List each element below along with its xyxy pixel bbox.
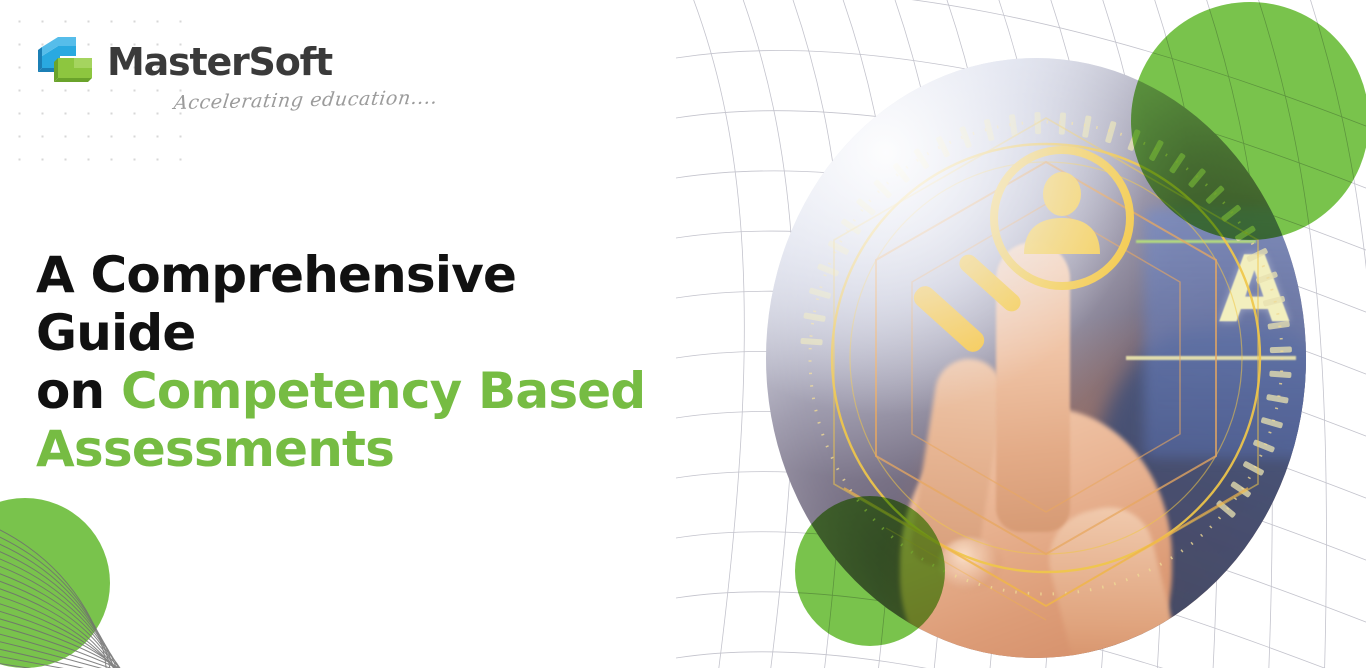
logo-tagline: Accelerating education.... [173,87,418,114]
headline-line-3-accent: Assessments [36,420,394,478]
magnifier-icon [910,150,1130,356]
logo[interactable]: MasterSoft Accelerating education.... [36,34,416,114]
hud-overlay [766,58,1306,658]
headline-line-2-plain: on [36,362,121,420]
hud-rings [832,144,1260,572]
logo-wordmark: MasterSoft [107,43,332,81]
page-title: A Comprehensive Guide on Competency Base… [36,246,686,478]
banner-root: A [0,0,1366,668]
hero-image: A [766,58,1306,658]
headline-line-2-accent: Competency Based [121,362,645,420]
pinwheel-logo-mark [36,34,98,90]
headline-line-1: A Comprehensive Guide [36,246,516,362]
green-circle-bottom-left [0,498,110,668]
hero-photo-layers: A [766,58,1306,658]
wavy-lines-pattern [0,492,206,668]
person-icon [1024,172,1100,254]
logo-row: MasterSoft [36,34,416,90]
radial-tick-marks [800,112,1292,518]
